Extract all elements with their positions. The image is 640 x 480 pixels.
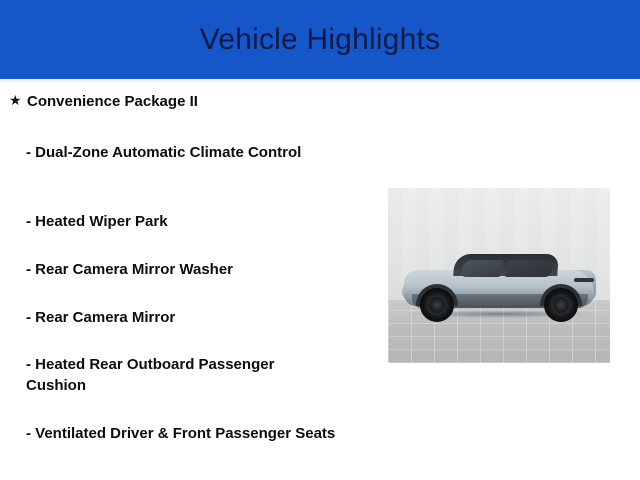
vehicle-rear-wheel (544, 288, 578, 322)
vehicle-front-window (460, 260, 504, 277)
list-item: - Heated Rear Outboard Passenger Cushion (0, 354, 344, 396)
list-item: - Rear Camera Mirror Washer (0, 259, 344, 280)
package-title: Convenience Package II (27, 92, 198, 112)
vehicle-taillight (574, 278, 594, 282)
vehicle-front-wheel (420, 288, 454, 322)
vehicle-photo (388, 188, 610, 363)
slide-content: ★ Convenience Package II - Dual-Zone Aut… (0, 82, 640, 480)
vehicle-rear-window (505, 260, 553, 277)
list-item: - Dual-Zone Automatic Climate Control (0, 142, 344, 163)
feature-list: ★ Convenience Package II - Dual-Zone Aut… (0, 82, 370, 122)
page-title: Vehicle Highlights (0, 21, 640, 59)
star-icon: ★ (9, 94, 22, 108)
package-heading-row: ★ Convenience Package II (0, 82, 370, 122)
vehicle-illustration (402, 248, 598, 320)
list-item: - Ventilated Driver & Front Passenger Se… (0, 423, 344, 444)
list-item: - Heated Wiper Park (0, 211, 344, 232)
header-banner: Vehicle Highlights (0, 0, 640, 79)
list-item: - Rear Camera Mirror (0, 307, 344, 328)
